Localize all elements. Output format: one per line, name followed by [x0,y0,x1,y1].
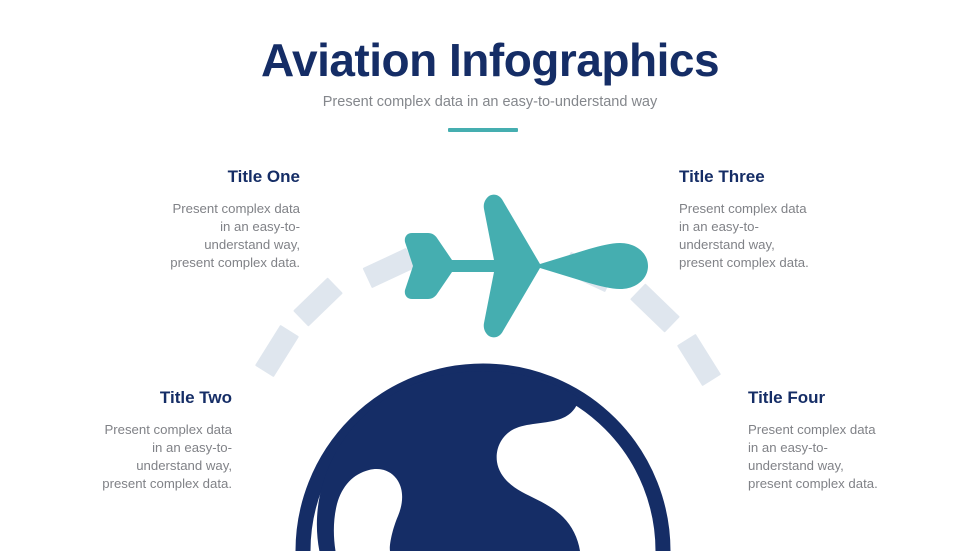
info-block-one-body: Present complex data in an easy-to- unde… [70,200,300,273]
info-block-two-body: Present complex data in an easy-to- unde… [2,421,232,494]
info-block-three-body: Present complex data in an easy-to- unde… [679,200,909,273]
info-block-four-body: Present complex data in an easy-to- unde… [748,421,978,494]
page-subtitle: Present complex data in an easy-to-under… [0,94,980,111]
info-block-three-title: Title Three [679,168,909,187]
info-block-one: Title One Present complex data in an eas… [70,168,300,273]
accent-divider [448,128,518,132]
dashed-arc-icon [255,248,721,386]
airplane-icon [405,195,648,338]
infographic-slide: Aviation Infographics Present complex da… [0,0,980,551]
header: Aviation Infographics Present complex da… [0,36,980,112]
globe-icon [303,371,663,551]
info-block-three: Title Three Present complex data in an e… [679,168,909,273]
page-title: Aviation Infographics [0,36,980,84]
info-block-two: Title Two Present complex data in an eas… [2,389,232,494]
info-block-two-title: Title Two [2,389,232,408]
info-block-four-title: Title Four [748,389,978,408]
info-block-one-title: Title One [70,168,300,187]
info-block-four: Title Four Present complex data in an ea… [748,389,978,494]
